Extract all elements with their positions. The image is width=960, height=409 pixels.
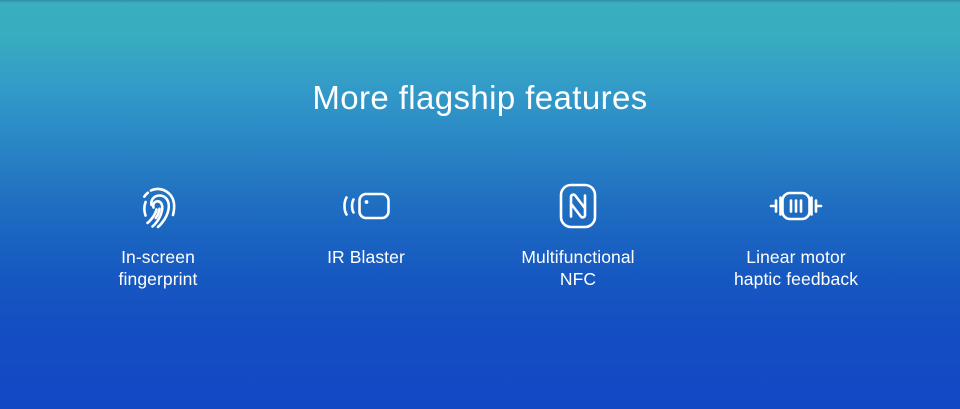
promo-banner: More flagship features In-screen fingerp… [0,0,960,409]
ir-blaster-icon [340,180,392,232]
feature-item-in-screen-fingerprint: In-screen fingerprint [54,180,262,290]
feature-label: IR Blaster [327,246,405,268]
page-title: More flagship features [0,78,960,118]
feature-item-ir-blaster: IR Blaster [262,180,470,268]
fingerprint-icon [135,180,181,232]
feature-list: In-screen fingerprint IR Blaster [60,180,900,290]
linear-motor-icon [767,180,825,232]
feature-item-linear-motor: Linear motor haptic feedback [692,180,900,290]
feature-label: Multifunctional NFC [521,246,634,290]
feature-label: In-screen fingerprint [119,246,198,290]
nfc-icon [557,180,599,232]
feature-label: Linear motor haptic feedback [734,246,858,290]
feature-item-multifunctional-nfc: Multifunctional NFC [474,180,682,290]
